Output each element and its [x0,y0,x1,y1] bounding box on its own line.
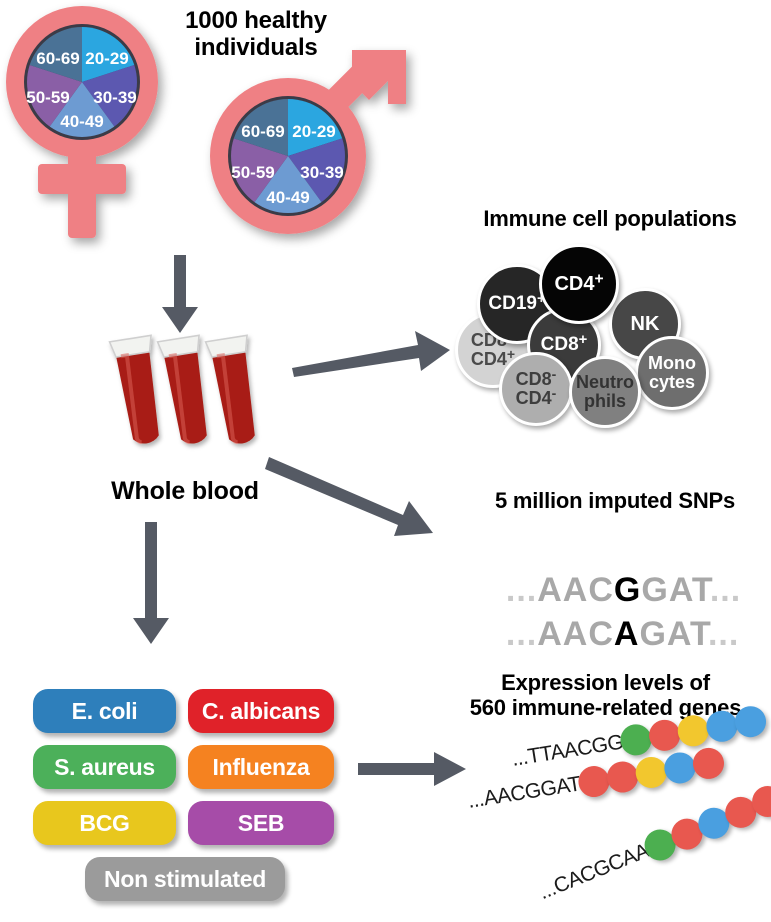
stimulation-label-seb: SEB [238,810,284,837]
immune-cell-monocytes: Monocytes [635,336,709,410]
blood-tubes [95,330,275,475]
immune-cell-label-nk: NK [631,314,660,335]
blood-tube-2 [158,335,216,446]
snp-row2-prefix: ... [506,615,537,653]
snp-sequence-row-2: ...AACAGAT... [485,576,739,654]
expression-dot [705,708,740,743]
stimulation-e-coli[interactable]: E. coli [33,689,176,733]
arrow-blood-to-snps [265,455,440,550]
immune-cell-cluster: CD19+ CD4+ NK CD8+CD4+ CD8+ CD8-CD4- Neu… [455,236,755,416]
stimulation-bcg[interactable]: BCG [33,801,176,845]
stimulation-label-bcg: BCG [79,810,129,837]
pie-label-40-49: 40-49 [60,112,103,131]
stimulation-label-s-aureus: S. aureus [54,754,155,781]
expression-dot [676,713,711,748]
immune-cell-label-cd8neg-cd4neg: CD8-CD4- [516,370,557,407]
stimulation-s-aureus[interactable]: S. aureus [33,745,176,789]
stimulation-c-albicans[interactable]: C. albicans [188,689,334,733]
arrow-stimulations-to-expression [358,752,468,788]
pie-label-60-69: 60-69 [241,122,284,141]
expression-dot [647,718,682,753]
expression-strand-2-seq: ...AACGGAT [466,772,582,813]
expression-strand-3-seq: ...CACGCAA [536,839,653,905]
pie-label-50-59: 50-59 [26,88,69,107]
expression-dot [662,750,697,785]
stimulation-label-non-stimulated: Non stimulated [104,866,266,893]
pie-label-60-69: 60-69 [36,49,79,68]
arrow-blood-to-stimulations [130,522,174,647]
pie-label-20-29: 20-29 [292,122,335,141]
immune-cell-label-monocytes: Monocytes [648,354,696,391]
pie-label-40-49: 40-49 [266,188,309,207]
expression-dot [690,746,725,781]
male-symbol: 20-29 30-39 40-49 50-59 60-69 [200,44,430,254]
expression-dot [604,759,639,794]
pie-label-50-59: 50-59 [231,163,274,182]
immune-cell-label-cd4: CD4+ [554,274,603,295]
snp-row2-allele: A [614,615,640,653]
arrow-blood-to-immune [290,325,455,380]
immune-cell-label-cd8: CD8+ [541,335,588,355]
blood-tube-1 [110,335,168,446]
arrow-cohort-to-blood [158,255,202,335]
immune-cell-cd8neg-cd4neg: CD8-CD4- [499,352,573,426]
stimulation-seb[interactable]: SEB [188,801,334,845]
immune-cell-neutrophils: Neutrophils [569,356,641,428]
immune-cell-label-neutrophils: Neutrophils [576,373,634,410]
pie-label-30-39: 30-39 [300,163,343,182]
whole-blood-label: Whole blood [85,477,285,505]
stimulation-label-e-coli: E. coli [72,698,138,725]
immune-cell-label-cd19: CD19+ [488,294,545,314]
female-symbol: 20-29 30-39 40-49 50-59 60-69 [2,6,222,246]
snp-row2-suffix: ... [708,615,739,653]
snps-title: 5 million imputed SNPs [460,489,770,514]
immune-cell-cd4: CD4+ [539,244,619,324]
stimulation-label-influenza: Influenza [213,754,310,781]
blood-tube-3 [206,335,264,446]
expression-title-line-1: Expression levels of [440,671,771,696]
pie-label-20-29: 20-29 [85,49,128,68]
expression-dot [733,704,768,739]
snp-row2-pre: AAC [537,615,614,653]
snp-row2-post: GAT [639,615,707,653]
stimulation-label-c-albicans: C. albicans [202,698,320,725]
stimulation-non-stimulated[interactable]: Non stimulated [85,857,285,901]
pie-label-30-39: 30-39 [93,88,136,107]
immune-title: Immune cell populations [450,207,770,232]
stimulation-influenza[interactable]: Influenza [188,745,334,789]
expression-dot [633,755,668,790]
